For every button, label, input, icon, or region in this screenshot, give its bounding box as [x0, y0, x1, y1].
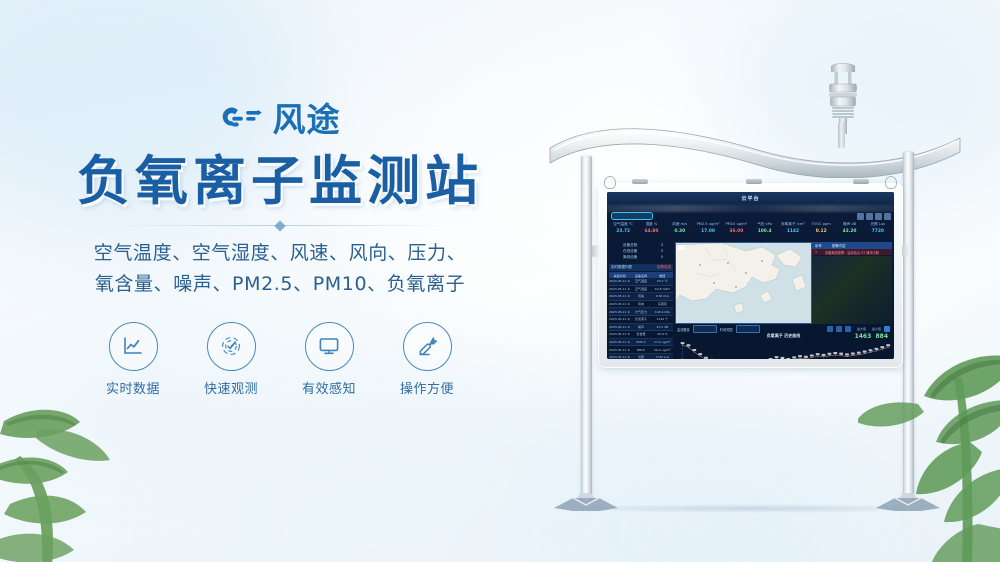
alert-column-header: 序号	[815, 243, 822, 248]
toolbar-icon-2[interactable]	[866, 213, 873, 220]
feature-item-effective-sensing[interactable]: 有效感知	[294, 322, 364, 397]
table-cell: 36.0 ug/m³	[652, 348, 673, 352]
kpi-item: 噪声 dB43.20	[835, 220, 863, 240]
mount-clip-1	[632, 179, 648, 184]
dashboard-right-panel: 序号报警内容 1设备离线报警：监测站点 03 通讯中断	[812, 242, 892, 324]
feature-item-fast-observation[interactable]: 快速观测	[196, 322, 266, 397]
device-stat-row: 离线设备0	[609, 254, 673, 260]
table-row[interactable]: 2023-05-11 10:30:00风速0.30 m/s	[609, 293, 673, 301]
table-cell: 噪声	[630, 325, 651, 329]
chart-select-element[interactable]	[693, 325, 717, 333]
feature-item-easy-operation[interactable]: 操作方便	[392, 322, 462, 397]
table-cell: 空气湿度	[630, 287, 651, 291]
leaf-decoration-left	[0, 326, 164, 562]
device-stat-value: 0	[661, 254, 663, 260]
toolbar-icon-1[interactable]	[857, 213, 864, 220]
mount-hook-left	[604, 176, 616, 189]
toolbar-icon-3[interactable]	[875, 213, 882, 220]
table-cell: 17.0 ug/m³	[652, 340, 673, 344]
side-bracket-right	[902, 245, 909, 257]
table-cell: PM2.5	[630, 340, 651, 344]
subtitle-line-2: 氧含量、噪声、PM2.5、PM10、负氧离子	[0, 269, 560, 300]
table-cell: 2023-05-11 10:23:00	[609, 348, 630, 352]
table-cell: 2023-05-11 10:30:00	[609, 294, 630, 298]
kpi-label: PM10 ug/m³	[722, 220, 750, 228]
alert-column-header: 报警内容	[832, 243, 846, 248]
map-panel[interactable]	[675, 242, 812, 324]
table-cell: 2023-05-11 10:25:00	[609, 332, 630, 336]
table-cell: 2023-05-11 10:32:00	[609, 279, 630, 283]
kpi-value: 100.4	[750, 228, 778, 236]
alert-cell: 1	[815, 250, 817, 254]
table-cell: 2023-05-11 10:24:00	[609, 340, 630, 344]
alert-badge: 报警信息	[657, 265, 671, 270]
kpi-item: PM2.5 ug/m³17.00	[694, 220, 722, 240]
display-screen[interactable]: 云平台 空气温度 ℃23.72湿度 %64.80风速 m/s0.30PM2.5 …	[607, 192, 894, 359]
kpi-value: 17.00	[694, 228, 722, 236]
kpi-item: 风速 m/s0.30	[666, 220, 694, 240]
table-cell: 2023-05-11 10:29:00	[609, 302, 630, 306]
table-row[interactable]: 2023-05-11 10:22:00光照7720 Lux	[609, 354, 673, 359]
table-row[interactable]: 2023-05-11 10:28:00大气压力100.4 kPa	[609, 308, 673, 316]
kpi-item: 气压 kPa100.4	[750, 220, 778, 240]
table-row[interactable]: 2023-05-11 10:26:00噪声43.2 dB	[609, 324, 673, 332]
kpi-label: 气压 kPa	[750, 220, 778, 228]
table-row[interactable]: 2023-05-11 10:32:00空气温度23.7 ℃	[609, 278, 673, 286]
monitoring-dashboard[interactable]: 云平台 空气温度 ℃23.72湿度 %64.80风速 m/s0.30PM2.5 …	[607, 192, 894, 359]
kpi-label: 风速 m/s	[666, 220, 694, 228]
table-cell: 2023-05-11 10:22:00	[609, 355, 630, 359]
station-chip[interactable]	[611, 212, 653, 220]
kpi-item: TVOC ppm0.12	[807, 220, 835, 240]
table-cell: 光照	[630, 355, 651, 359]
table-cell: 23.7 ℃	[652, 279, 673, 283]
page-title: 负氧离子监测站	[0, 152, 560, 211]
kpi-value: 1142	[779, 228, 807, 236]
table-cell: 风向	[630, 302, 651, 306]
kpi-value: 0.12	[807, 228, 835, 236]
table-row[interactable]: 2023-05-11 10:25:00氧含量20.9 %	[609, 331, 673, 339]
mount-clip-2	[746, 179, 762, 184]
table-cell: 2023-05-11 10:27:00	[609, 317, 630, 321]
table-cell: 风速	[630, 294, 651, 298]
kpi-row: 空气温度 ℃23.72湿度 %64.80风速 m/s0.30PM2.5 ug/m…	[609, 220, 892, 240]
title-divider	[115, 225, 445, 226]
table-cell: 43.2 dB	[652, 325, 673, 329]
alert-table-body[interactable]: 1设备离线报警：监测站点 03 通讯中断	[812, 249, 892, 255]
chart-controls[interactable]: 监测要素 时间范围 最大值 最小值	[675, 325, 892, 333]
kpi-value: 36.00	[722, 228, 750, 236]
table-cell: 7720 Lux	[652, 355, 673, 359]
feature-icon-ring	[207, 322, 256, 371]
kpi-item: 光照 Lux7720	[864, 220, 892, 240]
kpi-label: 光照 Lux	[864, 220, 892, 228]
chart-export-button[interactable]	[884, 326, 890, 332]
kpi-value: 64.80	[637, 228, 665, 236]
chart-select-range[interactable]	[736, 325, 760, 333]
chart-select-left-label: 监测要素	[677, 327, 690, 332]
dashboard-title: 云平台	[607, 195, 894, 202]
table-row[interactable]: 2023-05-11 10:27:00负氧离子1142 个	[609, 316, 673, 324]
table-cell: 20.9 %	[652, 332, 673, 336]
feature-label: 有效感知	[294, 378, 364, 397]
kpi-label: 湿度 %	[637, 220, 665, 228]
kpi-label: TVOC ppm	[807, 220, 835, 228]
mount-hook-right	[885, 176, 897, 189]
brand-name: 风途	[273, 103, 341, 136]
toolbar-icon-4[interactable]	[884, 213, 891, 220]
table-cell: 东南风	[652, 302, 673, 306]
kpi-label: 噪声 dB	[835, 220, 863, 228]
promo-banner: 风途 负氧离子监测站 空气温度、空气湿度、风速、风向、压力、 氧含量、噪声、PM…	[0, 0, 1000, 562]
device-stat-label: 离线设备	[623, 254, 637, 260]
dashboard-left-panel: 设备总数3在线设备3离线设备0 实时数据列表 报警信息 采集时间设备名称数值 2…	[609, 242, 673, 356]
table-row[interactable]: 2023-05-11 10:31:00空气湿度64.8 %RH	[609, 286, 673, 294]
table-row[interactable]: 2023-05-11 10:24:00PM2.517.0 ug/m³	[609, 339, 673, 347]
feature-icon-ring	[305, 322, 354, 371]
kpi-value: 0.30	[666, 228, 694, 236]
table-row[interactable]: 2023-05-11 10:29:00风向东南风	[609, 301, 673, 309]
table-cell: 64.8 %RH	[652, 287, 673, 291]
feature-label: 快速观测	[196, 378, 266, 397]
table-cell: 空气温度	[630, 279, 651, 283]
feature-icon-ring	[403, 322, 452, 371]
kpi-item: 空气温度 ℃23.72	[609, 220, 637, 240]
monitor-screen-icon	[317, 334, 341, 358]
table-cell: 100.4 kPa	[652, 310, 673, 314]
chart-view-button-1[interactable]	[827, 326, 833, 332]
kpi-label: PM2.5 ug/m³	[694, 220, 722, 228]
data-table-columns: 采集时间设备名称数值	[609, 272, 673, 278]
table-cell: 1142 个	[652, 317, 673, 321]
kpi-item: 湿度 %64.80	[637, 220, 665, 240]
mount-clip-3	[853, 179, 869, 184]
table-cell: 负氧离子	[630, 317, 651, 321]
subtitle-line-1: 空气温度、空气湿度、风速、风向、压力、	[0, 238, 560, 269]
alert-table-header: 序号报警内容	[812, 242, 892, 249]
kpi-label: 负氧离子 /cm³	[779, 220, 807, 228]
table-column-header: 采集时间	[609, 273, 630, 278]
device-stats: 设备总数3在线设备3离线设备0	[609, 242, 673, 260]
chart-legend-min: 最小值	[872, 327, 881, 331]
map-landmass	[676, 243, 811, 323]
chart-view-button-3[interactable]	[845, 326, 851, 332]
table-cell: 0.30 m/s	[652, 294, 673, 298]
kpi-value: 23.72	[609, 228, 637, 236]
subtitle: 空气温度、空气湿度、风速、风向、压力、 氧含量、噪声、PM2.5、PM10、负氧…	[0, 238, 560, 300]
alert-row[interactable]: 1设备离线报警：监测站点 03 通讯中断	[812, 249, 892, 255]
kpi-item: 负氧离子 /cm³1142	[779, 220, 807, 240]
chart-select-right-label: 时间范围	[720, 327, 733, 332]
table-cell: 大气压力	[630, 310, 651, 314]
side-bracket-left	[592, 245, 599, 257]
wave-canopy-icon	[546, 122, 964, 178]
brand-logo: 风途	[0, 96, 560, 142]
alert-cell: 设备离线报警：监测站点 03 通讯中断	[825, 250, 879, 255]
kpi-item: PM10 ug/m³36.00	[722, 220, 750, 240]
wind-cloud-logo-icon	[220, 102, 264, 136]
feature-label: 操作方便	[392, 378, 462, 397]
chart-view-button-2[interactable]	[836, 326, 842, 332]
table-cell: 2023-05-11 10:31:00	[609, 287, 630, 291]
leaf-decoration-right	[858, 338, 1000, 562]
table-column-header: 数值	[652, 273, 673, 278]
table-row[interactable]: 2023-05-11 10:23:00PM1036.0 ug/m³	[609, 346, 673, 354]
chart-legend-max: 最大值	[857, 327, 866, 331]
site-photo	[812, 256, 892, 324]
data-table-body[interactable]: 2023-05-11 10:32:00空气温度23.7 ℃2023-05-11 …	[609, 278, 673, 359]
kpi-value: 43.20	[835, 228, 863, 236]
data-table-title: 实时数据列表	[611, 265, 632, 270]
wrench-icon	[415, 334, 439, 358]
kpi-value: 7720	[864, 228, 892, 236]
table-cell: 2023-05-11 10:26:00	[609, 325, 630, 329]
support-post-left	[581, 156, 592, 501]
table-cell: PM10	[630, 348, 651, 352]
table-cell: 氧含量	[630, 332, 651, 336]
table-column-header: 设备名称	[630, 273, 651, 278]
data-table-header: 实时数据列表 报警信息	[609, 264, 673, 271]
kpi-label: 空气温度 ℃	[609, 220, 637, 228]
radar-scan-icon	[219, 334, 243, 358]
table-cell: 2023-05-11 10:28:00	[609, 310, 630, 314]
